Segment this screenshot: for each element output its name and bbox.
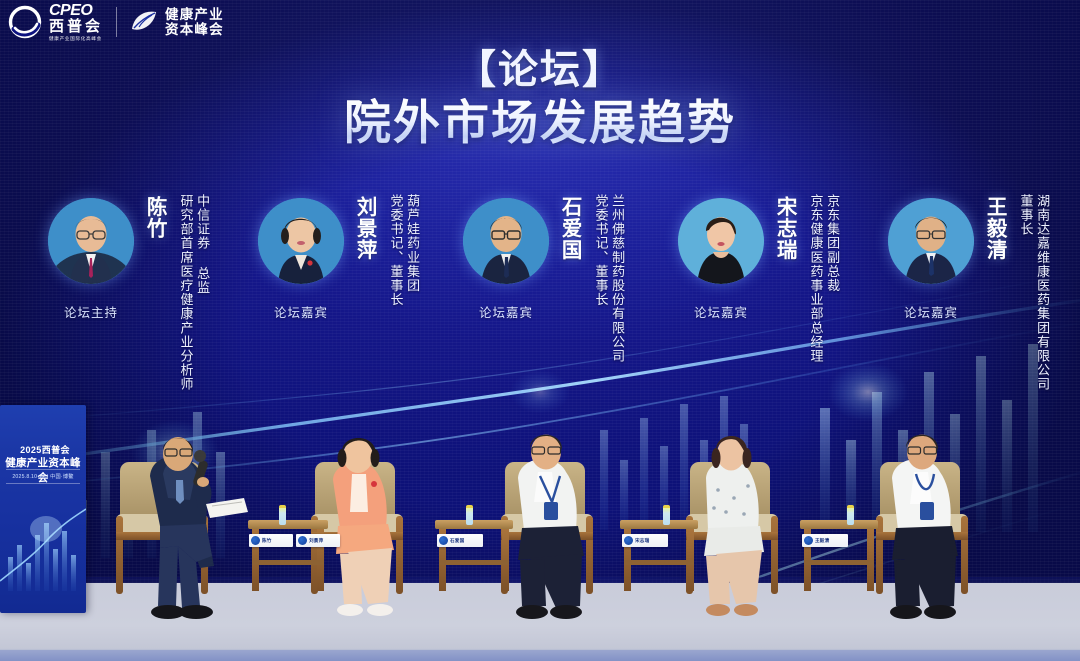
panelist-name: 石爱国 (558, 196, 580, 261)
nameplate-logo-icon (251, 536, 260, 545)
forum-title-block: 【论坛】 院外市场发展趋势 (0, 48, 1080, 148)
nameplate-2[interactable]: 刘景萍 (296, 534, 340, 547)
side-table-4 (800, 520, 878, 591)
panelist-title-col-2: 董事长 (1018, 194, 1033, 391)
nameplate-logo-icon (439, 536, 448, 545)
panel-seating (0, 416, 1080, 661)
panelist-title-block: 葫芦娃药业集团 党委书记、董事长 (388, 194, 419, 307)
logo-health-capital-summit: 健康产业 资本峰会 (130, 8, 224, 37)
portrait-photo (888, 198, 974, 284)
portrait-photo (258, 198, 344, 284)
logo2-line2: 资本峰会 (165, 23, 224, 37)
nameplate-text: 刘景萍 (309, 538, 323, 544)
panelist-title-block: 京东集团副总裁 京东健康医药事业部总经理 (808, 194, 839, 363)
avatar (463, 198, 549, 284)
logo-xipuhui: CPEO 西普会 健康产业国际化高峰会 (8, 3, 103, 42)
nameplate-text: 石爱国 (450, 538, 464, 544)
logo-en-text: CPEO (49, 3, 103, 19)
nameplate-logo-icon (298, 536, 307, 545)
panelist-name-strip: 论坛主持 陈竹 中信证券 总监 研究部首席医疗健康产业分析师 (0, 180, 1080, 440)
nameplate-5[interactable]: 王毅清 (802, 534, 848, 547)
nameplate-1[interactable]: 陈竹 (249, 534, 293, 547)
portrait-photo (678, 198, 764, 284)
panelist-name: 宋志瑞 (773, 196, 795, 261)
logo-cn-text: 西普会 (49, 19, 103, 34)
nameplate-3[interactable]: 石爱国 (437, 534, 483, 547)
title-line-2: 院外市场发展趋势 (0, 97, 1080, 149)
panelist-role: 论坛嘉宾 (672, 302, 770, 321)
panelist-title-col-2: 京东健康医药事业部总经理 (808, 194, 823, 363)
panelist-title-col-2: 党委书记、董事长 (388, 194, 403, 307)
panelist-name: 刘景萍 (353, 196, 375, 261)
logo-cn-subtext: 健康产业国际化高峰会 (49, 37, 103, 42)
panelist-title-col-1: 葫芦娃药业集团 (405, 194, 420, 307)
logo2-line1: 健康产业 (165, 8, 224, 22)
water-bottle-3 (663, 505, 670, 525)
panelist-title-block: 中信证券 总监 研究部首席医疗健康产业分析师 (178, 194, 209, 391)
portrait-photo (463, 198, 549, 284)
stage-foreground: 2025西普会 健康产业资本峰会 2025.8.10-12 | 中国·博鳌 (0, 416, 1080, 661)
water-bottle-4 (847, 505, 854, 525)
nameplate-text: 宋志瑞 (635, 538, 649, 544)
panelist-title-col-1: 兰州佛慈制药股份有限公司 (610, 194, 625, 363)
water-bottle-1 (279, 505, 286, 525)
panelist-role: 论坛嘉宾 (457, 302, 555, 321)
leaf-logo (130, 9, 158, 35)
water-bottle-2 (466, 505, 473, 525)
panelist-name: 王毅清 (983, 196, 1005, 261)
panelist-title-col-1: 京东集团副总裁 (825, 194, 840, 363)
avatar (678, 198, 764, 284)
panelist-title-block: 湖南达嘉维康医药集团有限公司 董事长 (1018, 194, 1049, 391)
avatar (258, 198, 344, 284)
nameplate-logo-icon (624, 536, 633, 545)
nameplate-text: 陈竹 (262, 538, 272, 544)
panelist-name: 陈竹 (143, 196, 165, 239)
panelist-role: 论坛主持 (42, 302, 140, 321)
circle-swirl-logo (8, 5, 42, 39)
panelist-title-col-1: 中信证券 总监 (195, 194, 210, 391)
panelist-title-col-2: 研究部首席医疗健康产业分析师 (178, 194, 193, 391)
panelist-role: 论坛嘉宾 (252, 302, 350, 321)
panelist-title-col-2: 党委书记、董事长 (593, 194, 608, 363)
avatar (888, 198, 974, 284)
led-stage-backdrop: CPEO 西普会 健康产业国际化高峰会 健康产业 资本峰会 【论坛】 院外市场发… (0, 0, 1080, 661)
logo-divider (116, 7, 117, 37)
title-line-1: 【论坛】 (0, 48, 1080, 93)
panelist-title-col-1: 湖南达嘉维康医药集团有限公司 (1035, 194, 1050, 391)
portrait-photo (48, 198, 134, 284)
avatar (48, 198, 134, 284)
seated-person-1 (150, 437, 248, 619)
panelist-role: 论坛嘉宾 (882, 302, 980, 321)
header-logo-bar: CPEO 西普会 健康产业国际化高峰会 健康产业 资本峰会 (0, 0, 1080, 44)
panelist-title-block: 兰州佛慈制药股份有限公司 党委书记、董事长 (593, 194, 624, 363)
nameplate-4[interactable]: 宋志瑞 (622, 534, 668, 547)
nameplate-text: 王毅清 (815, 538, 829, 544)
nameplate-logo-icon (804, 536, 813, 545)
